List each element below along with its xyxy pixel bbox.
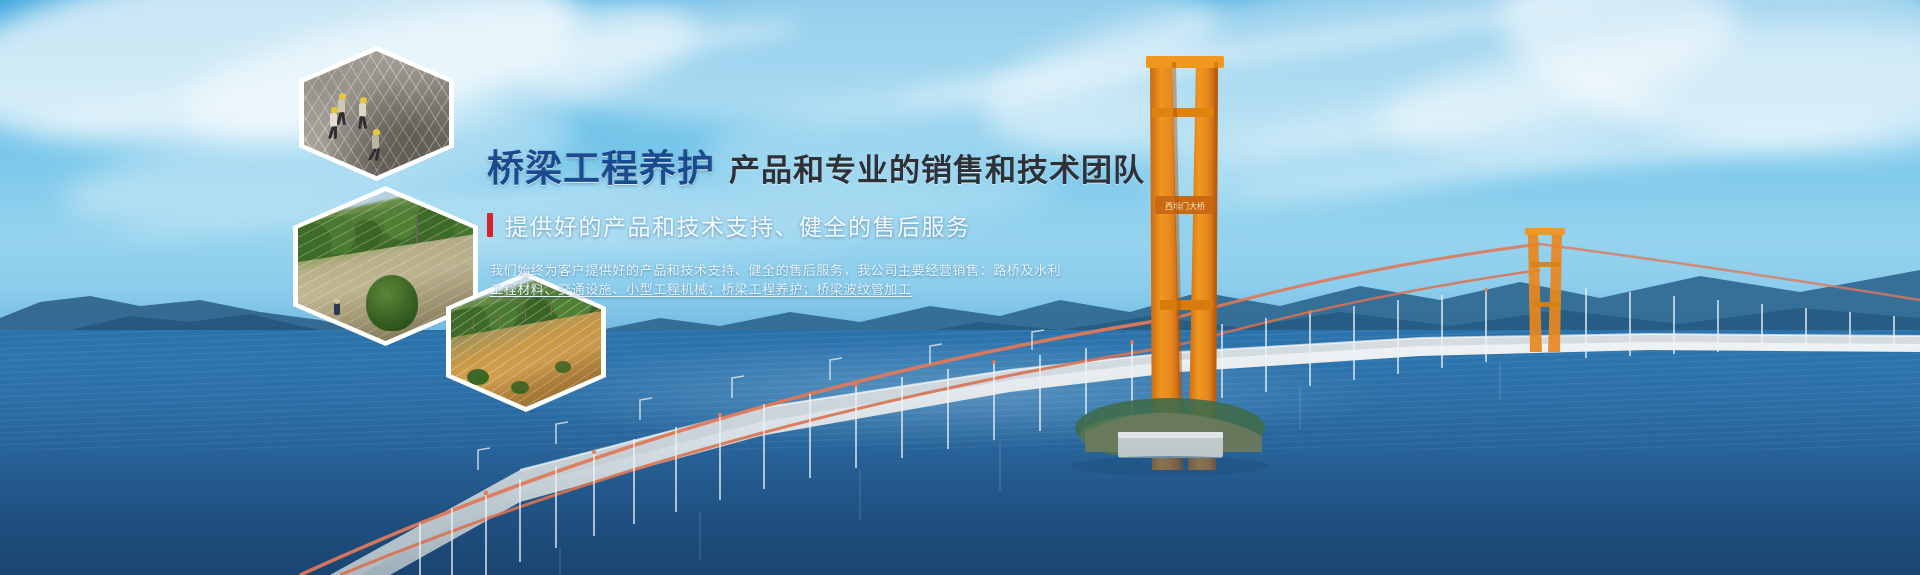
description-line-2: 工程材料、交通设施、小型工程机械；桥梁工程养护；桥梁波纹管加工: [490, 281, 1107, 300]
subheadline-text: 提供好的产品和技术支持、健全的售后服务: [505, 208, 971, 242]
banner-copy: 桥梁工程养护 产品和专业的销售和技术团队 提供好的产品和技术支持、健全的售后服务…: [487, 150, 1107, 300]
hero-banner: 西堠门大桥: [0, 0, 1920, 575]
headline-main: 桥梁工程养护: [487, 150, 715, 187]
subheadline-row: 提供好的产品和技术支持、健全的售后服务: [487, 208, 1107, 242]
red-accent-bar: [487, 213, 493, 237]
description-block: 我们始终为客户提供好的产品和技术支持、健全的售后服务，我公司主要经营销售：路桥及…: [487, 262, 1107, 300]
headline-row: 桥梁工程养护 产品和专业的销售和技术团队: [487, 150, 1107, 187]
headline-secondary: 产品和专业的销售和技术团队: [729, 156, 1145, 187]
sea-water: [0, 330, 1920, 575]
description-line-1: 我们始终为客户提供好的产品和技术支持、健全的售后服务，我公司主要经营销售：路桥及…: [490, 262, 1107, 281]
